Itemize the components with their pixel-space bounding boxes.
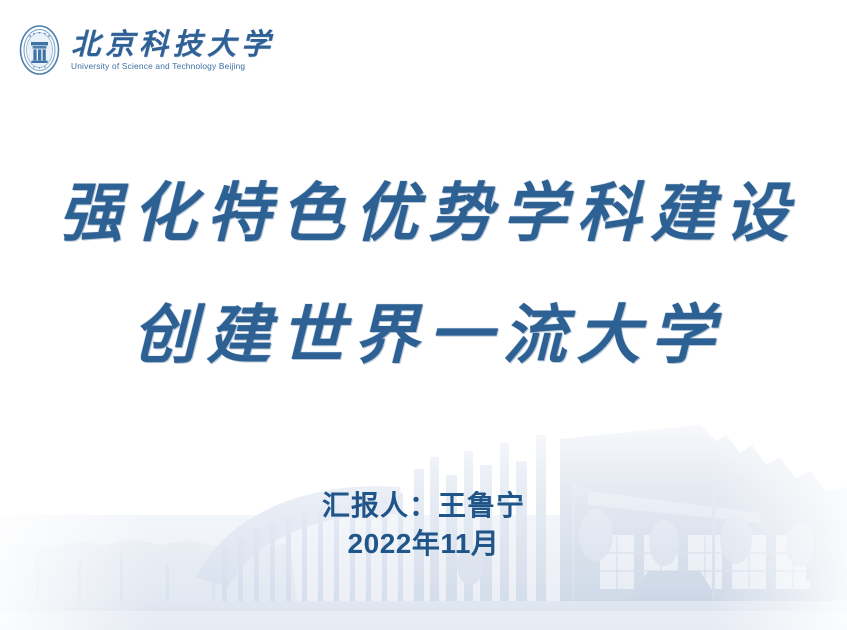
title-line-2: 创建世界一流大学 bbox=[0, 298, 847, 374]
logo-text-lockup: 北京科技大学 University of Science and Technol… bbox=[71, 29, 275, 72]
usts-beijing-seal-emblem bbox=[17, 24, 62, 76]
presenter-name-line: 汇报人：王鲁宁 bbox=[0, 487, 847, 525]
logo-chinese-name: 北京科技大学 bbox=[71, 29, 275, 59]
presenter-info: 汇报人：王鲁宁 2022年11月 bbox=[0, 487, 847, 563]
title-slide: 北京科技大学 University of Science and Technol… bbox=[0, 0, 847, 630]
presentation-date: 2022年11月 bbox=[0, 525, 847, 563]
university-logo: 北京科技大学 University of Science and Technol… bbox=[17, 24, 275, 76]
slide-title: 强化特色优势学科建设 创建世界一流大学 bbox=[0, 176, 847, 373]
logo-english-name: University of Science and Technology Bei… bbox=[71, 62, 271, 71]
title-line-1: 强化特色优势学科建设 bbox=[0, 176, 847, 252]
